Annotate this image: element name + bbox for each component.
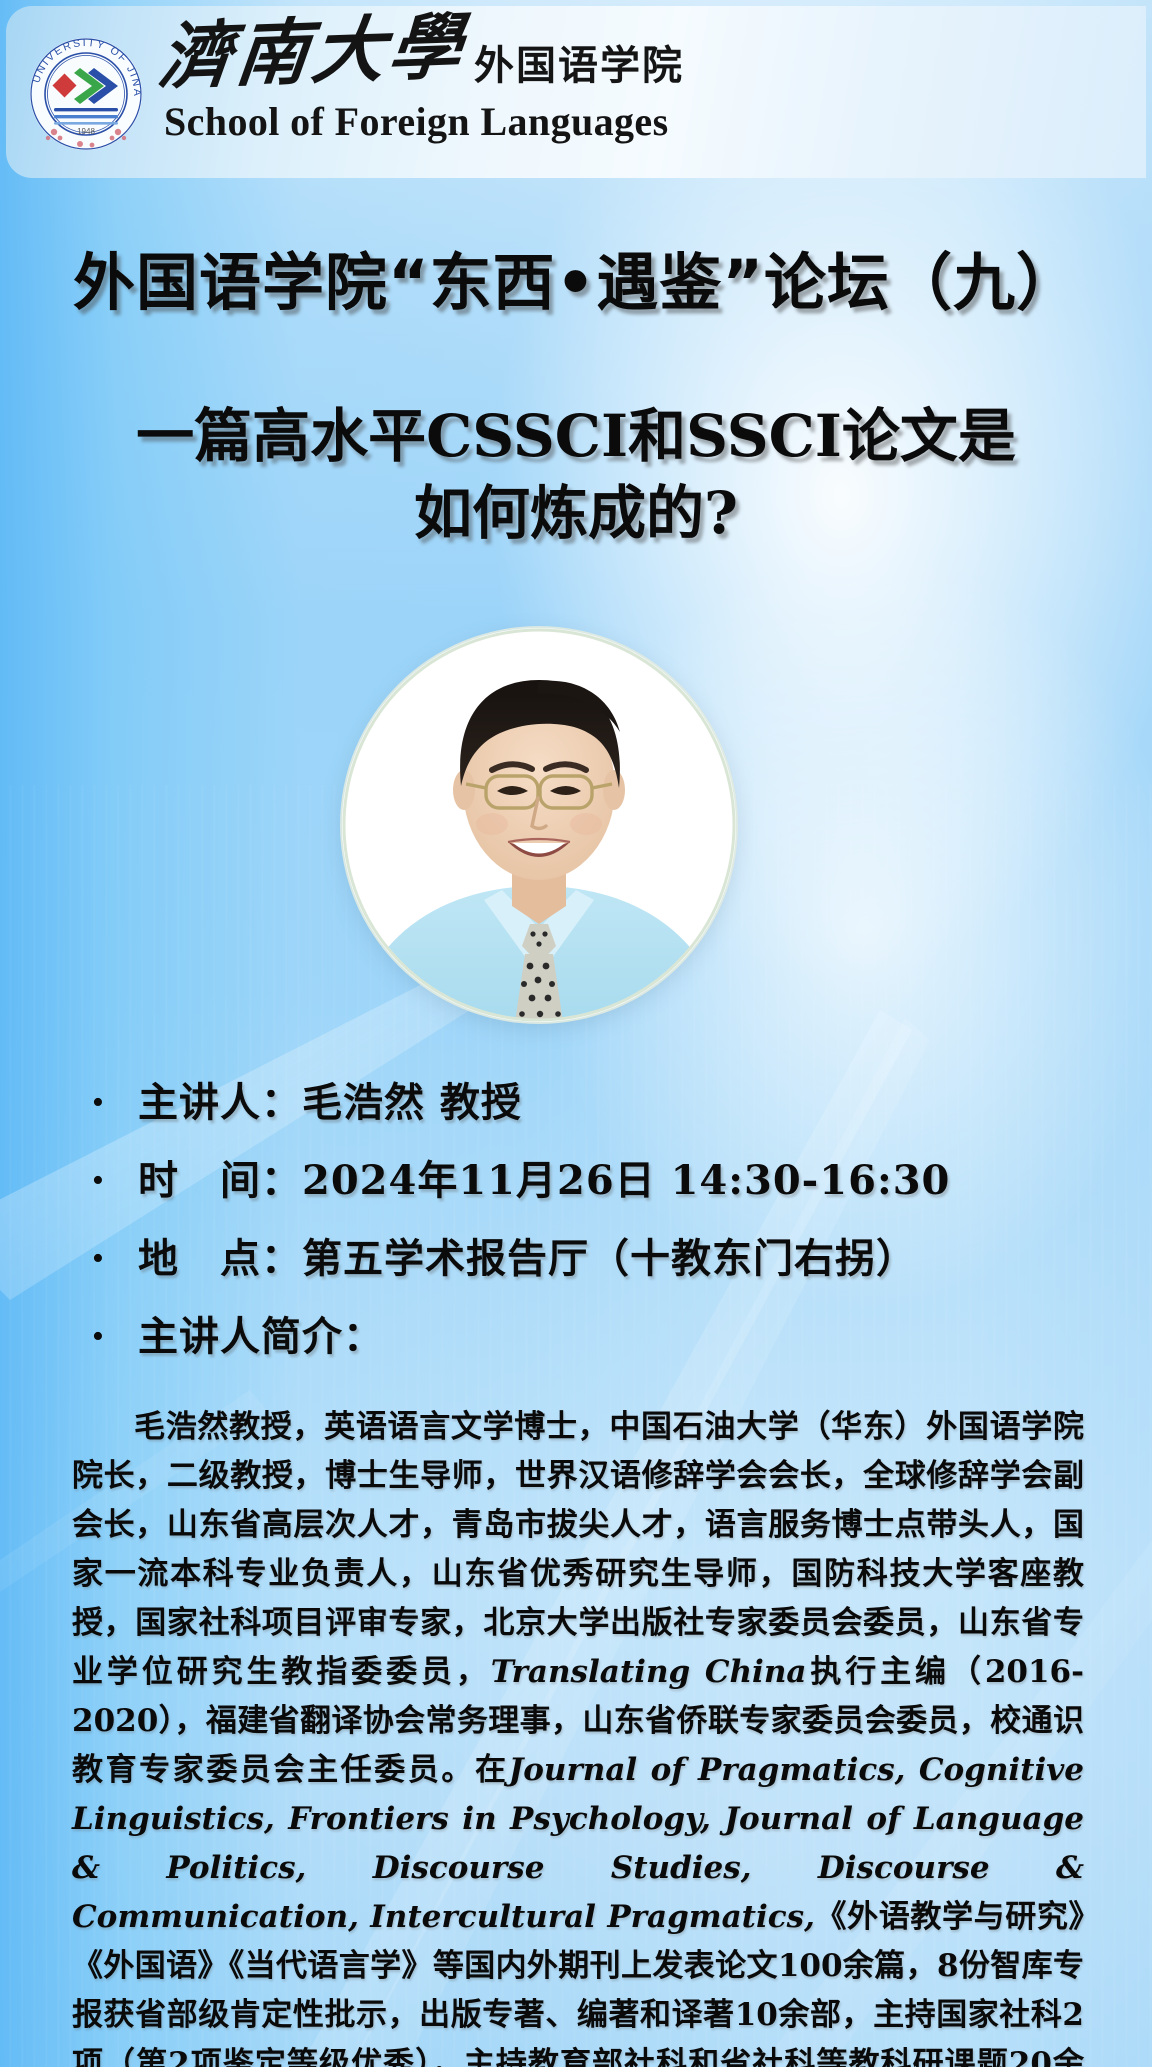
list-item: • 主讲人简介： [86, 1309, 1086, 1365]
venue-line: 地 点：第五学术报告厅（十教东门右拐） [138, 1231, 917, 1287]
lecture-subtitle: 一篇高水平CSSCI和SSCI论文是 如何炼成的? [70, 398, 1082, 551]
speaker-line: 主讲人：毛浩然 教授 [138, 1075, 522, 1131]
bullet-icon: • [86, 1309, 138, 1365]
department-name-chinese: 外国语学院 [474, 46, 684, 86]
bio-journal-translating-china: Translating China [491, 1654, 807, 1690]
forum-title: 外国语学院“东西•遇鉴”论坛（九） [0, 246, 1152, 319]
lecture-subtitle-line1: 一篇高水平CSSCI和SSCI论文是 [70, 398, 1082, 475]
speaker-portrait [342, 628, 736, 1022]
bio-heading: 主讲人简介： [138, 1309, 384, 1365]
header-band: UNIVERSITY OF JINAN 1948 [6, 6, 1146, 178]
list-item: • 主讲人：毛浩然 教授 [86, 1075, 1086, 1131]
university-of-jinan-emblem-icon: UNIVERSITY OF JINAN 1948 [24, 28, 148, 158]
poster-root: UNIVERSITY OF JINAN 1948 [0, 0, 1152, 2067]
speaker-portrait-image [342, 628, 736, 1022]
time-line: 时 间：2024年11月26日 14:30-16:30 [138, 1153, 950, 1209]
bio-segment-1: 毛浩然教授，英语语言文学博士，中国石油大学（华东）外国语学院院长，二级教授，博士… [72, 1409, 1084, 1690]
bullet-icon: • [86, 1231, 138, 1287]
university-name-calligraphy: 濟南大學 [156, 11, 469, 94]
list-item: • 地 点：第五学术报告厅（十教东门右拐） [86, 1231, 1086, 1287]
event-details-list: • 主讲人：毛浩然 教授 • 时 间：2024年11月26日 14:30-16:… [86, 1075, 1086, 1387]
school-name-english: School of Foreign Languages [164, 98, 669, 145]
speaker-biography: 毛浩然教授，英语语言文学博士，中国石油大学（华东）外国语学院院长，二级教授，博士… [72, 1403, 1084, 2067]
school-name-chinese-row: 濟南大學 外国语学院 [156, 22, 684, 94]
svg-text:1948: 1948 [77, 127, 95, 136]
bullet-icon: • [86, 1075, 138, 1131]
university-logo: UNIVERSITY OF JINAN 1948 [24, 28, 148, 158]
lecture-subtitle-line2: 如何炼成的? [70, 475, 1082, 552]
list-item: • 时 间：2024年11月26日 14:30-16:30 [86, 1153, 1086, 1209]
bullet-icon: • [86, 1153, 138, 1209]
